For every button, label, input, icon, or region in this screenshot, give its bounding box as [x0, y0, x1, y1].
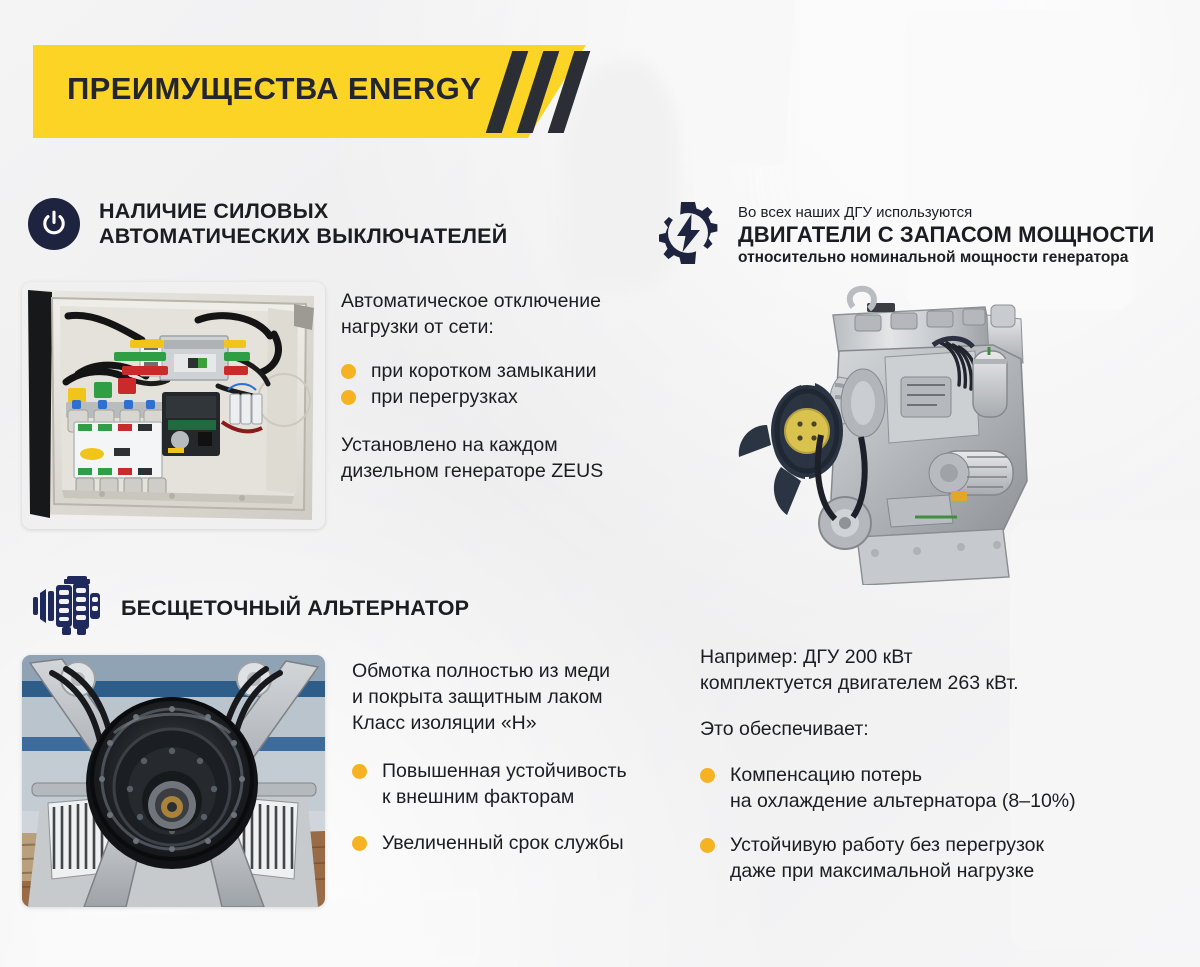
engine-subheading: относительно номинальной мощности генера…: [738, 248, 1154, 268]
section-heading-alternator: БЕСЩЕТОЧНЫЙ АЛЬТЕРНАТОР: [33, 575, 469, 642]
breakers-bullet-list: при коротком замыкании при перегрузках: [341, 358, 671, 410]
alternator-rotor-photo: [22, 655, 325, 907]
alternator-intro: Обмотка полностью из меди и покрыта защи…: [352, 658, 682, 736]
section-heading-engine: Во всех наших ДГУ используются ДВИГАТЕЛИ…: [655, 200, 1154, 271]
alternator-text-block: Обмотка полностью из меди и покрыта защи…: [352, 658, 682, 856]
list-item: Увеличенный срок службы: [352, 830, 682, 856]
breakers-footer: Установлено на каждом дизельном генерато…: [341, 432, 671, 484]
breakers-text-block: Автоматическое отключение нагрузки от се…: [341, 288, 671, 484]
engine-bullet-list: Компенсацию потерь на охлаждение альтерн…: [700, 762, 1180, 884]
electrical-cabinet-photo: [22, 282, 325, 529]
list-item: при коротком замыкании: [341, 358, 671, 384]
alternator-bullet-list: Повышенная устойчивость к внешним фактор…: [352, 758, 682, 856]
section-heading-alternator-label: БЕСЩЕТОЧНЫЙ АЛЬТЕРНАТОР: [121, 596, 469, 621]
section-heading-engine-label: ДВИГАТЕЛИ С ЗАПАСОМ МОЩНОСТИ: [738, 222, 1154, 248]
section-heading-breakers: НАЛИЧИЕ СИЛОВЫХ АВТОМАТИЧЕСКИХ ВЫКЛЮЧАТЕ…: [28, 198, 507, 250]
list-item: Устойчивую работу без перегрузок даже пр…: [700, 832, 1180, 884]
breakers-intro: Автоматическое отключение нагрузки от се…: [341, 288, 671, 340]
engine-eyebrow: Во всех наших ДГУ используются: [738, 203, 1154, 222]
list-item: Компенсацию потерь на охлаждение альтерн…: [700, 762, 1180, 814]
section-heading-breakers-label: НАЛИЧИЕ СИЛОВЫХ АВТОМАТИЧЕСКИХ ВЫКЛЮЧАТЕ…: [99, 199, 507, 250]
alternator-icon: [33, 575, 105, 642]
infographic-page: ПРЕИМУЩЕСТВА ENERGY НАЛИЧИЕ СИЛОВЫХ АВТО…: [0, 0, 1200, 967]
header-banner: ПРЕИМУЩЕСТВА ENERGY: [33, 45, 586, 138]
engine-example: Например: ДГУ 200 кВт комплектуется двиг…: [700, 644, 1180, 696]
engine-provides-label: Это обеспечивает:: [700, 716, 1180, 742]
power-icon: [28, 198, 80, 250]
page-title: ПРЕИМУЩЕСТВА ENERGY: [67, 71, 481, 107]
gear-bolt-icon: [655, 200, 721, 271]
engine-text-block: Например: ДГУ 200 кВт комплектуется двиг…: [700, 644, 1180, 884]
list-item: Повышенная устойчивость к внешним фактор…: [352, 758, 682, 810]
diesel-engine-photo: [735, 285, 1075, 585]
list-item: при перегрузках: [341, 384, 671, 410]
